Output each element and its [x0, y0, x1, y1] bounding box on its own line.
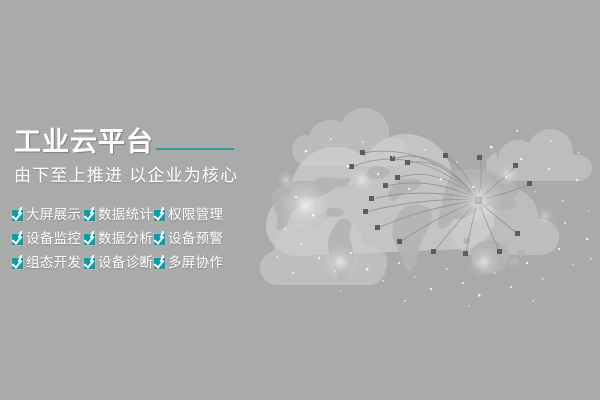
- check-icon: [154, 258, 165, 269]
- feature-label: 大屏展示: [26, 207, 81, 223]
- check-icon: [84, 234, 95, 245]
- feature-label: 数据统计: [98, 207, 153, 223]
- feature-item-5[interactable]: 设备预警: [154, 227, 223, 251]
- feature-label: 组态开发: [26, 255, 81, 271]
- page-title: 工业云平台: [14, 126, 154, 158]
- cloud-network-illustration: [0, 0, 600, 400]
- feature-label: 数据分析: [98, 231, 153, 247]
- check-icon: [84, 210, 95, 221]
- title-row: 工业云平台: [14, 118, 314, 158]
- feature-label: 设备预警: [168, 231, 223, 247]
- feature-item-1[interactable]: 数据统计: [84, 203, 154, 227]
- feature-item-0[interactable]: 大屏展示: [12, 203, 84, 227]
- cloud-shape-back-right: [486, 129, 592, 181]
- glow-blooms: [276, 163, 555, 280]
- feature-label: 设备诊断: [98, 255, 153, 271]
- feature-item-4[interactable]: 数据分析: [84, 227, 154, 251]
- feature-item-8[interactable]: 多屏协作: [154, 251, 223, 275]
- check-icon: [154, 210, 165, 221]
- cloud-shape-mid-right: [451, 188, 559, 255]
- feature-item-2[interactable]: 权限管理: [154, 203, 223, 227]
- network-connection-arcs: [352, 151, 530, 254]
- cloud-shape-lower-left: [260, 217, 387, 285]
- page-subtitle: 由下至上推进 以企业为核心: [14, 165, 314, 187]
- check-icon: [12, 210, 23, 221]
- feature-checklist: 大屏展示 数据统计 权限管理 设备监控 数据分析 设备预警 组态开发 设备: [12, 203, 223, 275]
- title-underline-rule: [156, 148, 234, 150]
- feature-label: 设备监控: [26, 231, 81, 247]
- feature-item-6[interactable]: 组态开发: [12, 251, 84, 275]
- check-icon: [12, 234, 23, 245]
- feature-item-3[interactable]: 设备监控: [12, 227, 84, 251]
- feature-label: 多屏协作: [168, 255, 223, 271]
- check-icon: [12, 258, 23, 269]
- network-nodes: [349, 150, 532, 256]
- sparkle-particles: [276, 130, 592, 307]
- feature-item-7[interactable]: 设备诊断: [84, 251, 154, 275]
- check-icon: [84, 258, 95, 269]
- headline-text-block: 工业云平台 由下至上推进 以企业为核心: [14, 118, 314, 187]
- industrial-cloud-platform-banner: 工业云平台 由下至上推进 以企业为核心 大屏展示 数据统计 权限管理 设备监控 …: [0, 0, 600, 400]
- feature-label: 权限管理: [168, 207, 223, 223]
- check-icon: [154, 234, 165, 245]
